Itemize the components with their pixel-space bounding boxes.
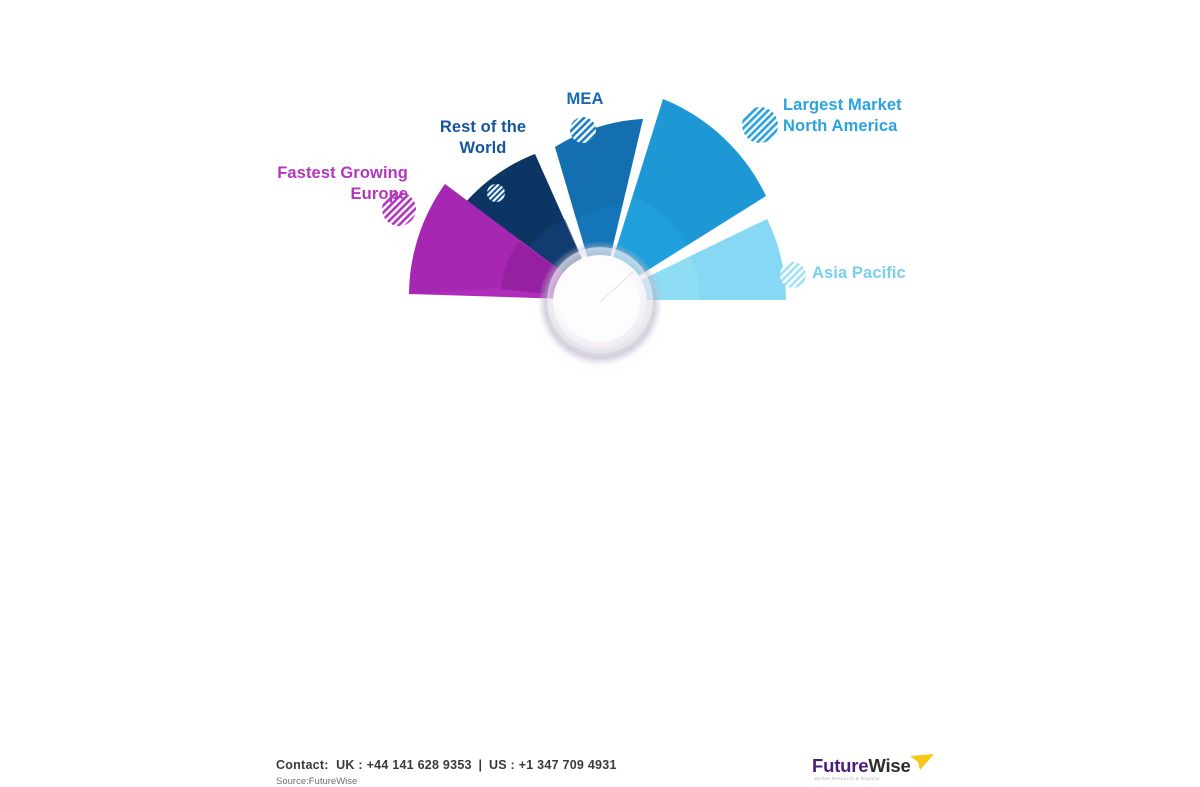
label-mea-region: MEA <box>540 89 630 110</box>
label-north-america-region: North America <box>783 116 929 137</box>
contact-label: Contact: <box>276 758 329 772</box>
label-rest-of-world-line1: Rest of the <box>422 117 544 138</box>
uk-phone[interactable]: +44 141 628 9353 <box>367 758 472 772</box>
infographic-canvas: Fastest Growing Europe Rest of the World… <box>0 0 1200 428</box>
futurewise-logo[interactable]: FutureWise Market Research & Reports <box>812 755 927 787</box>
source-line: Source:FutureWise <box>276 776 357 787</box>
uk-label: UK : <box>336 758 363 772</box>
logo-word-wise: Wise <box>868 755 910 776</box>
logo-tagline: Market Research & Reports <box>814 776 879 781</box>
us-label: US : <box>489 758 515 772</box>
label-rest-of-world[interactable]: Rest of the World <box>422 117 544 158</box>
logo-swoosh-icon <box>909 753 935 773</box>
contact-line: Contact: UK : +44 141 628 9353 | US : +1… <box>276 758 617 772</box>
label-europe-annotation: Fastest Growing <box>258 163 408 184</box>
logo-wordmark: FutureWise <box>812 755 911 777</box>
label-asia-pacific[interactable]: Asia Pacific <box>812 263 952 284</box>
label-rest-of-world-line2: World <box>422 138 544 159</box>
label-north-america[interactable]: Largest Market North America <box>783 95 929 136</box>
us-phone[interactable]: +1 347 709 4931 <box>519 758 617 772</box>
phone-separator: | <box>475 758 485 772</box>
label-asia-pacific-region: Asia Pacific <box>812 263 952 284</box>
label-north-america-annotation: Largest Market <box>783 95 929 116</box>
footer: Contact: UK : +44 141 628 9353 | US : +1… <box>0 370 1200 428</box>
label-europe-region: Europe <box>258 184 408 205</box>
label-mea[interactable]: MEA <box>540 89 630 110</box>
logo-word-future: Future <box>812 755 868 776</box>
regional-fan-chart <box>0 0 1200 428</box>
label-europe[interactable]: Fastest Growing Europe <box>258 163 408 204</box>
chart-center-hub <box>538 241 662 365</box>
